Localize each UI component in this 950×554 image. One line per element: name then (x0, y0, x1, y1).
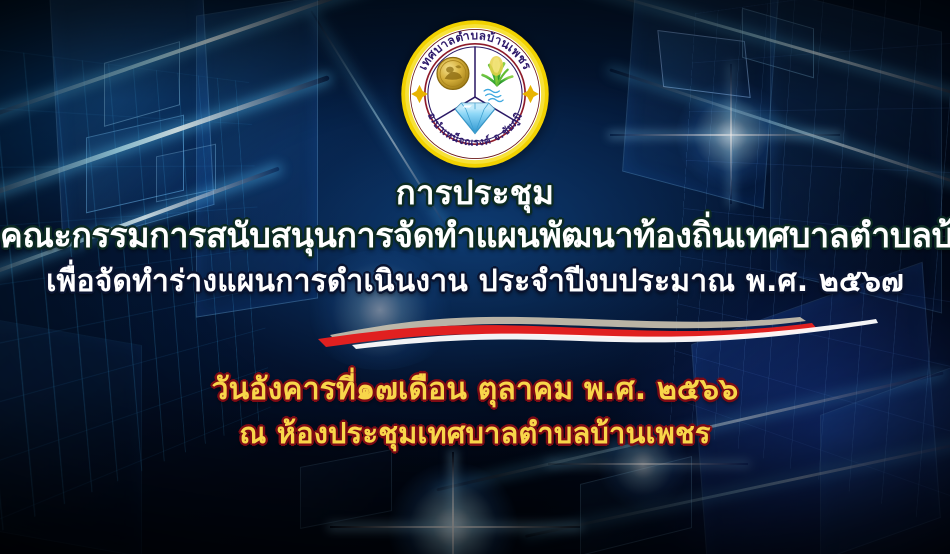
banner-content: เทศบาลตำบลบ้านเพชร อ.บำเหน็จณรงค์ จ.ชัยภ… (0, 0, 950, 554)
swoosh-divider (0, 305, 950, 351)
municipality-seal-icon: เทศบาลตำบลบ้านเพชร อ.บำเหน็จณรงค์ จ.ชัยภ… (399, 18, 551, 170)
heading-line-2: คณะกรรมการสนับสนุนการจัดทำแผนพัฒนาท้องถิ… (0, 219, 950, 253)
footer-block: วันอังคารที่๑๗เดือน ตุลาคม พ.ศ. ๒๕๖๖ ณ ห… (0, 375, 950, 448)
event-venue-line: ณ ห้องประชุมเทศบาลตำบลบ้านเพชร (0, 419, 950, 448)
heading-line-3: เพื่อจัดทำร่างแผนการดำเนินงาน ประจำปีงบป… (0, 267, 950, 297)
heading-block: การประชุม คณะกรรมการสนับสนุนการจัดทำแผนพ… (0, 176, 950, 297)
event-date-line: วันอังคารที่๑๗เดือน ตุลาคม พ.ศ. ๒๕๖๖ (0, 375, 950, 405)
banner-stage: เทศบาลตำบลบ้านเพชร อ.บำเหน็จณรงค์ จ.ชัยภ… (0, 0, 950, 554)
heading-line-1: การประชุม (0, 176, 950, 209)
